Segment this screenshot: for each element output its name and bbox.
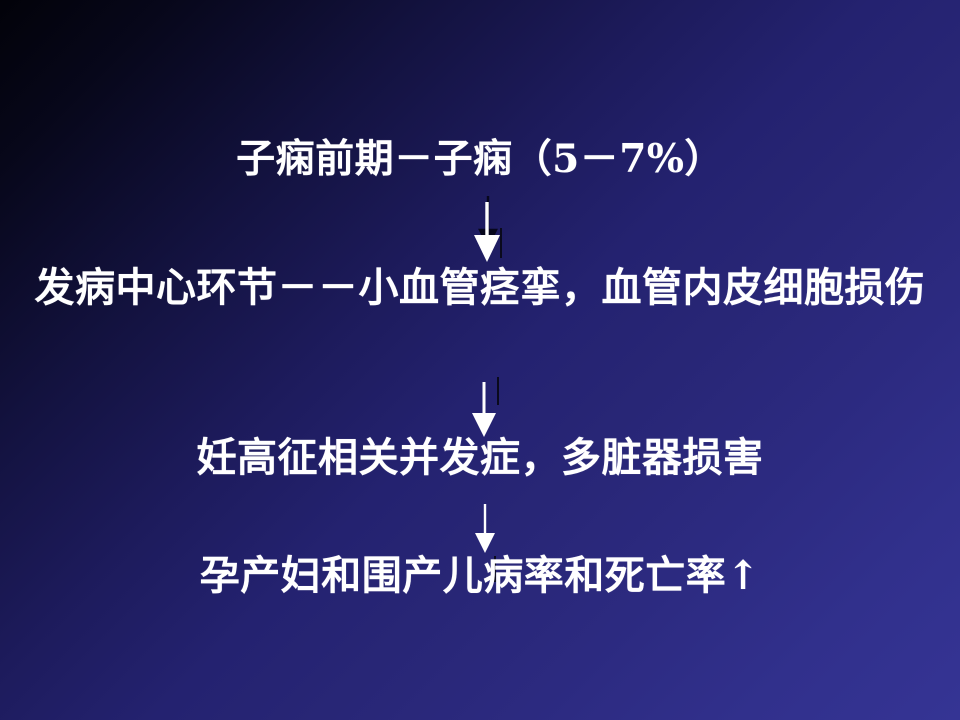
flowchart: 子痫前期－子痫（5－7%） 发病中心环节－－小血管痉挛，血管内皮细胞损伤 妊高征… [0, 0, 960, 720]
flow-step-4: 孕产妇和围产儿病率和死亡率↑ [0, 554, 960, 597]
down-arrow-3-icon [470, 504, 500, 554]
flow-step-3: 妊高征相关并发症，多脏器损害 [0, 436, 960, 479]
down-arrow-1-icon [470, 202, 504, 264]
presentation-slide: 子痫前期－子痫（5－7%） 发病中心环节－－小血管痉挛，血管内皮细胞损伤 妊高征… [0, 0, 960, 720]
flow-step-2: 发病中心环节－－小血管痉挛，血管内皮细胞损伤 [0, 262, 960, 315]
flow-step-1: 子痫前期－子痫（5－7%） [0, 138, 960, 180]
text-cursor-artifact [500, 228, 502, 258]
text-cursor-artifact [497, 377, 499, 405]
